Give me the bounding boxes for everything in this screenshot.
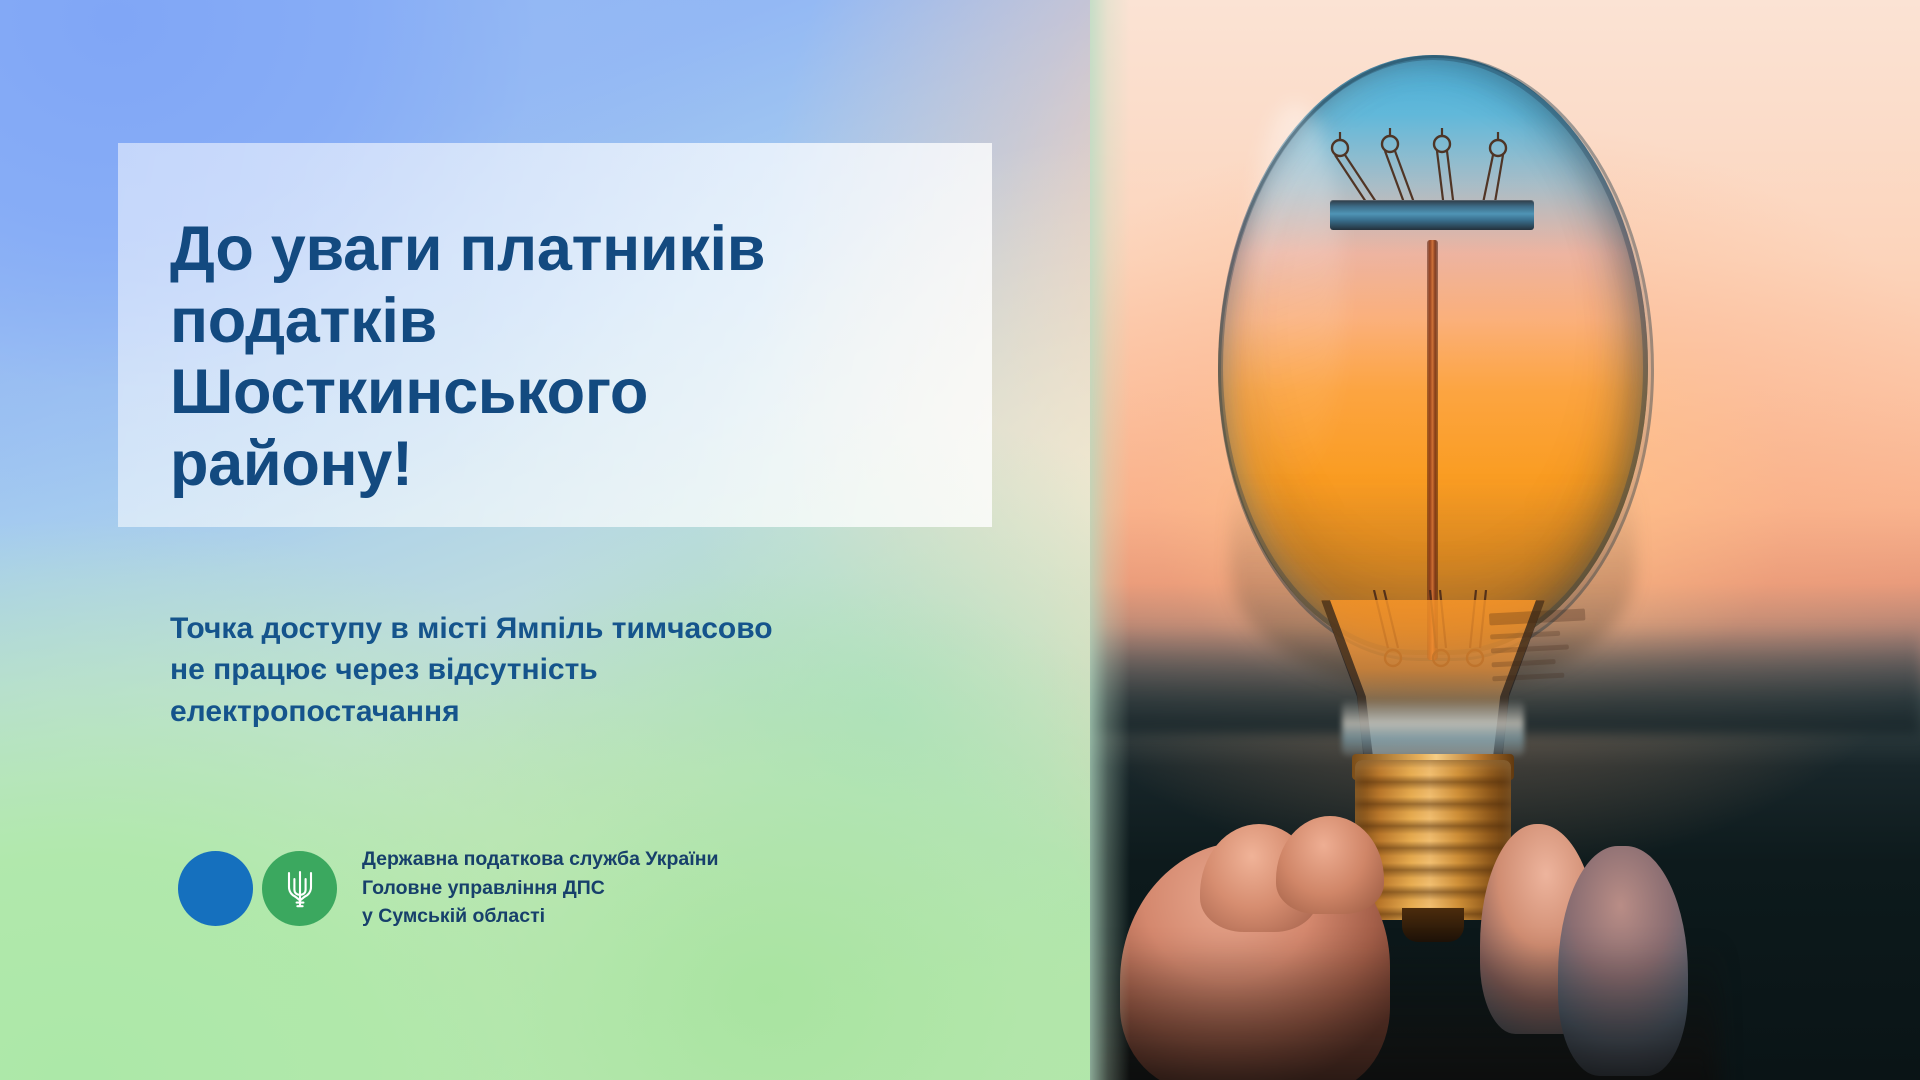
hand-holding-bulb [1090, 790, 1720, 1080]
blue-circle-icon [178, 851, 253, 926]
organization-footer: Державна податкова служба України Головн… [178, 845, 719, 931]
page-title: До уваги платників податків Шосткинськог… [170, 214, 980, 500]
hand-shadow [1090, 940, 1720, 1080]
index-finger [1276, 816, 1384, 914]
poster-canvas: До уваги платників податків Шосткинськог… [0, 0, 1920, 1080]
subtitle-text: Точка доступу в місті Ямпіль тимчасово н… [170, 608, 1000, 732]
organization-name-block: Державна податкова служба України Головн… [362, 845, 719, 931]
filament-cross-bar [1330, 200, 1534, 230]
footer-line-1: Державна податкова служба України [362, 845, 719, 874]
footer-line-2: Головне управління ДПС [362, 874, 719, 903]
bulb-etched-markings [1489, 607, 1625, 734]
trident-glyph [283, 867, 317, 911]
dps-logo [178, 845, 330, 931]
photo-edge-blend [1090, 0, 1130, 1080]
footer-line-3: у Сумській області [362, 902, 719, 931]
lightbulb-photograph [1090, 0, 1920, 1080]
ukraine-trident-icon [262, 851, 337, 926]
